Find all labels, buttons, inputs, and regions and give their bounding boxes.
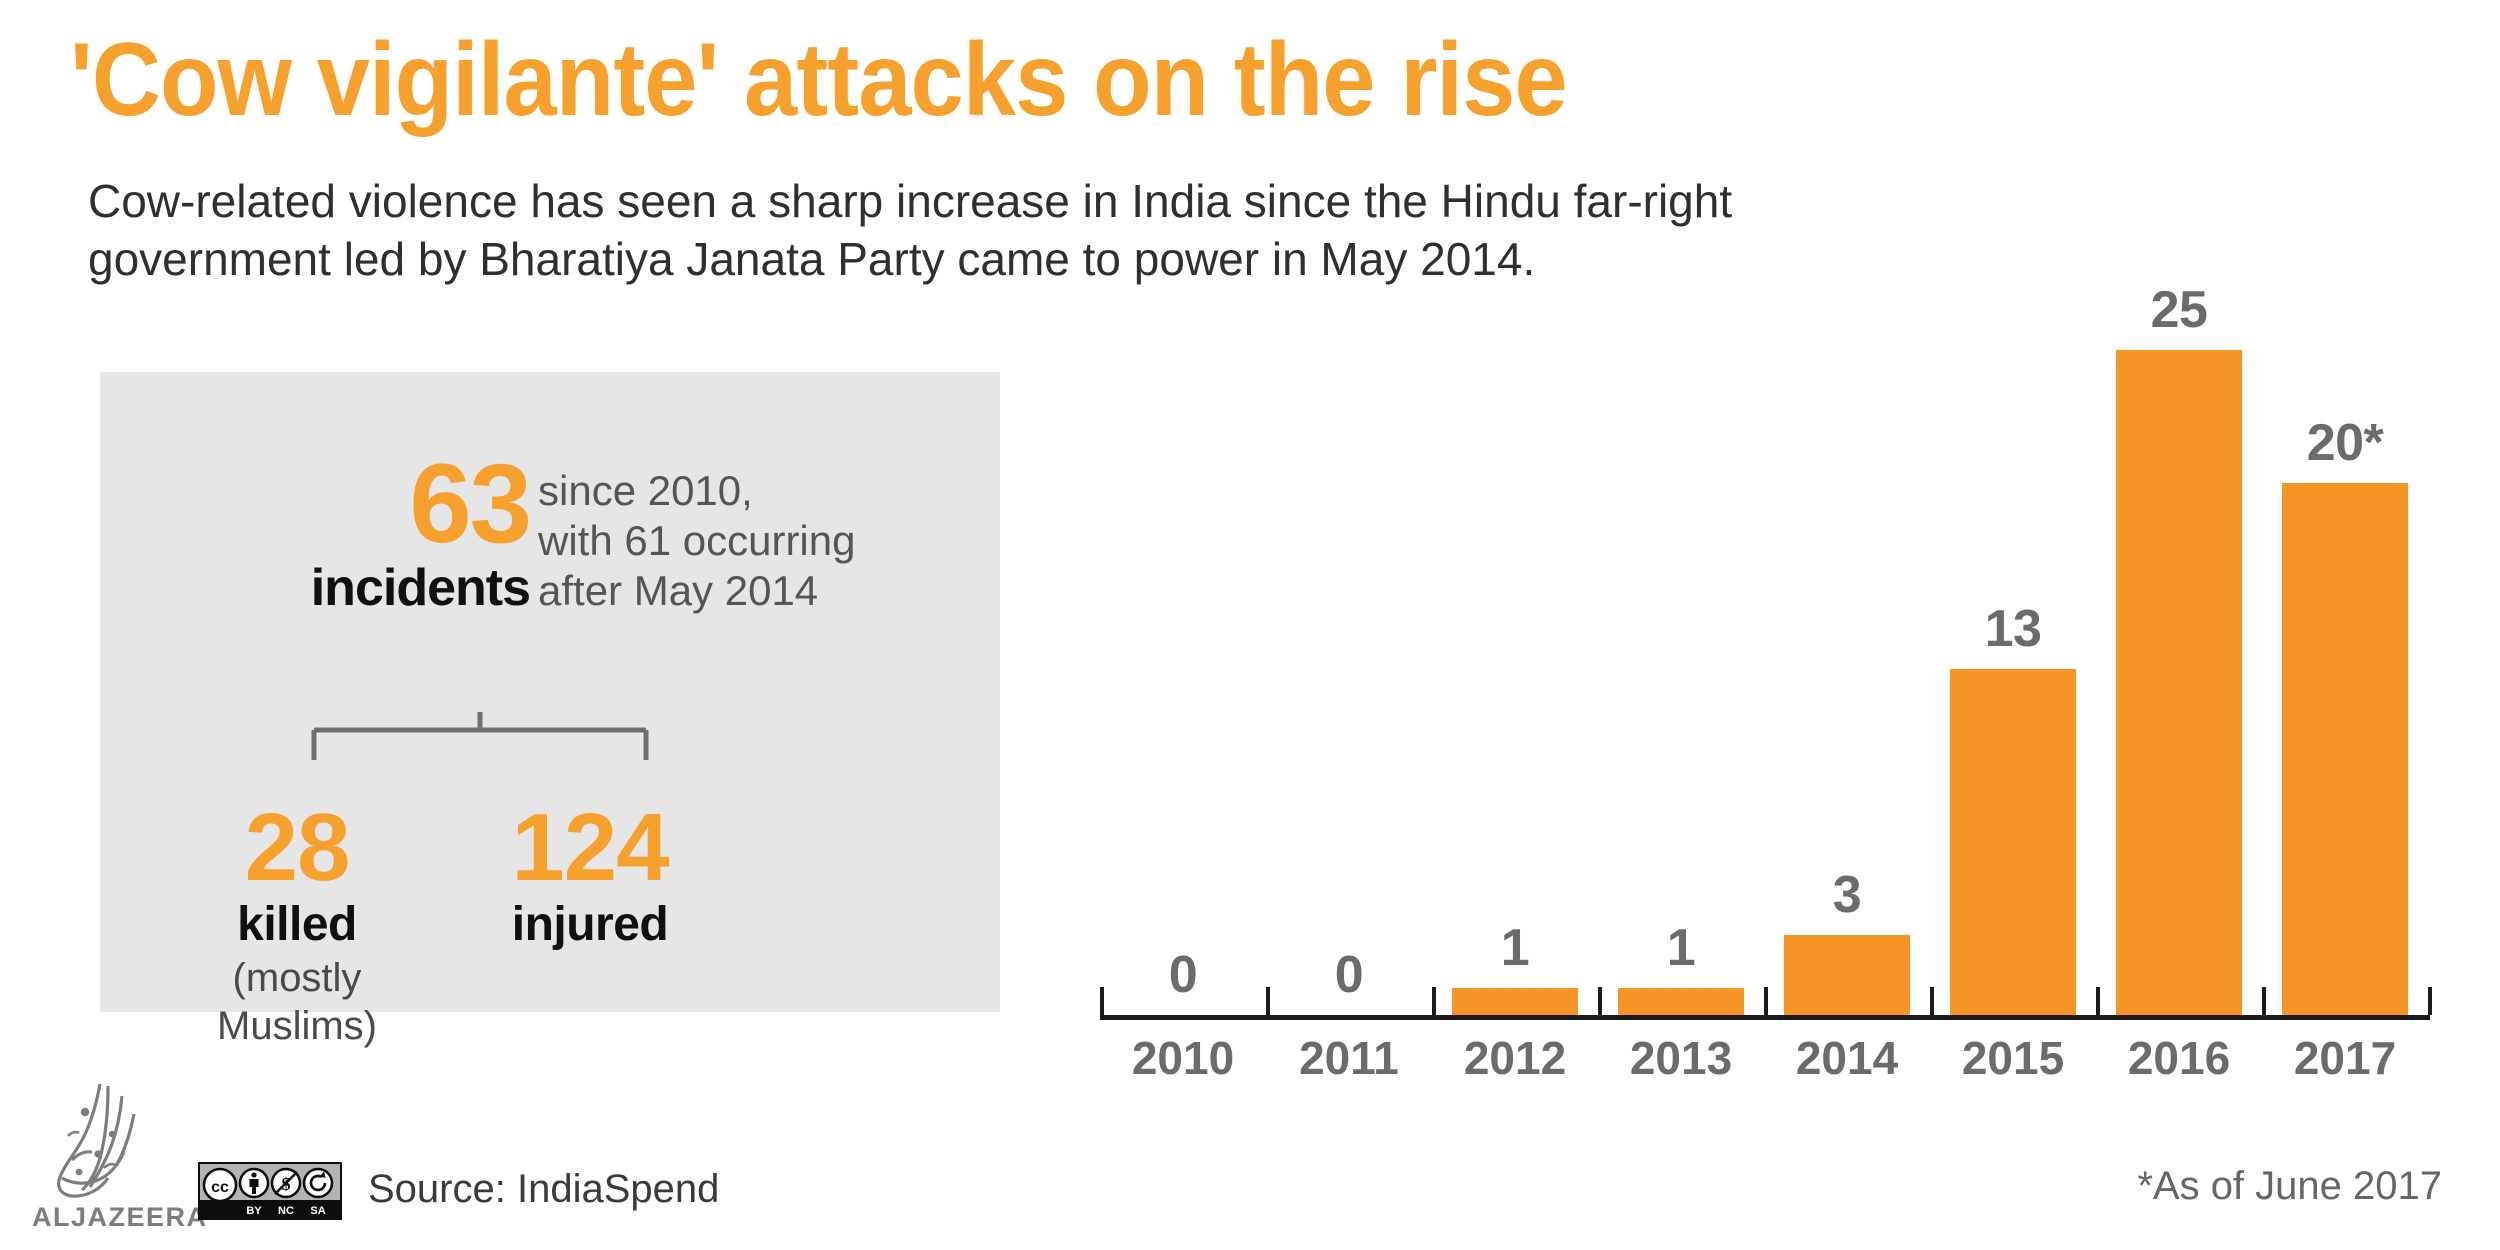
bar-slot: 25 [2096,230,2262,1015]
bar-slot: 3 [1764,230,1930,1015]
injured-block: 124 injured [430,802,750,952]
chart-bar[interactable] [2282,483,2408,1015]
x-axis-tick-label: 2013 [1598,1030,1764,1086]
chart-bar[interactable] [1784,935,1910,1015]
total-incidents-note: since 2010, with 61 occurring after May … [538,452,855,616]
aljazeera-calligraphy-icon [38,1080,168,1205]
bar-value-label: 1 [1432,922,1598,974]
killed-label: killed [172,898,422,952]
x-axis-tick-label: 2012 [1432,1030,1598,1086]
total-incidents-figure: 63 incidents [100,452,538,616]
x-axis-labels: 20102011201220132014201520162017 [1100,1030,2430,1090]
bar-value-label: 0 [1266,949,1432,1001]
killed-block: 28 killed (mostly Muslims) [172,802,422,1050]
note-line-2: with 61 occurring [538,516,855,566]
aljazeera-wordmark: ALJAZEERA [32,1202,208,1233]
bar-slot: 20* [2262,230,2428,1015]
stats-panel: 63 incidents since 2010, with 61 occurri… [100,372,1000,1012]
aljazeera-logo: ALJAZEERA [24,1080,184,1240]
bar-value-label: 20* [2262,417,2428,469]
note-line-3: after May 2014 [538,566,855,616]
x-axis-tick [2428,987,2432,1015]
x-axis-tick-label: 2011 [1266,1030,1432,1086]
killed-value: 28 [172,802,422,894]
injured-label: injured [430,898,750,952]
x-axis-tick [2262,987,2266,1015]
svg-text:cc: cc [211,1179,229,1196]
svg-text:SA: SA [310,1205,325,1217]
x-axis-line [1100,1015,2430,1020]
x-axis-tick [1432,987,1436,1015]
total-incidents-block: 63 incidents since 2010, with 61 occurri… [100,452,1000,616]
x-axis-tick-label: 2015 [1930,1030,2096,1086]
bar-slot: 1 [1432,230,1598,1015]
chart-bar[interactable] [1452,988,1578,1015]
killed-sub-line-1: (mostly [172,954,422,1002]
bar-slot: 13 [1930,230,2096,1015]
creative-commons-badge-icon: cc $ BY NC SA [198,1162,342,1220]
incidents-bar-chart: 00113132520* 201020112012201320142015201… [1100,230,2430,1030]
chart-bar[interactable] [1618,988,1744,1015]
bar-value-label: 3 [1764,869,1930,921]
killed-sub-line-2: Muslims) [172,1002,422,1050]
chart-plot-area: 00113132520* [1100,230,2430,1015]
bar-value-label: 1 [1598,922,1764,974]
source-label: Source: IndiaSpend [368,1165,719,1213]
x-axis-tick [1764,987,1768,1015]
bar-value-label: 13 [1930,603,2096,655]
x-axis-tick-label: 2010 [1100,1030,1266,1086]
svg-text:BY: BY [246,1205,262,1217]
x-axis-tick-label: 2017 [2262,1030,2428,1086]
page-title: 'Cow vigilante' attacks on the rise [70,28,1567,132]
x-axis-tick [1930,987,1934,1015]
svg-text:NC: NC [278,1205,294,1217]
chart-bar[interactable] [1950,669,2076,1015]
x-axis-tick [1266,987,1270,1015]
total-incidents-label: incidents [100,560,530,616]
bar-value-label: 0 [1100,949,1266,1001]
bar-slot: 0 [1266,230,1432,1015]
killed-sublabel: (mostly Muslims) [172,954,422,1050]
x-axis-tick-label: 2016 [2096,1030,2262,1086]
as-of-footnote: *As of June 2017 [2137,1162,2442,1210]
x-axis-tick-label: 2014 [1764,1030,1930,1086]
subtitle-line-1: Cow-related violence has seen a sharp in… [88,172,2368,230]
x-axis-tick [1100,987,1104,1015]
note-line-1: since 2010, [538,466,855,516]
bar-slot: 0 [1100,230,1266,1015]
injured-value: 124 [430,802,750,894]
chart-bar[interactable] [2116,350,2242,1015]
x-axis-tick [2096,987,2100,1015]
total-incidents-value: 63 [100,452,530,556]
bracket-connector-icon [310,712,650,762]
x-axis-tick [1598,987,1602,1015]
bar-slot: 1 [1598,230,1764,1015]
bar-value-label: 25 [2096,284,2262,336]
infographic-canvas: 'Cow vigilante' attacks on the rise Cow-… [0,0,2500,1250]
